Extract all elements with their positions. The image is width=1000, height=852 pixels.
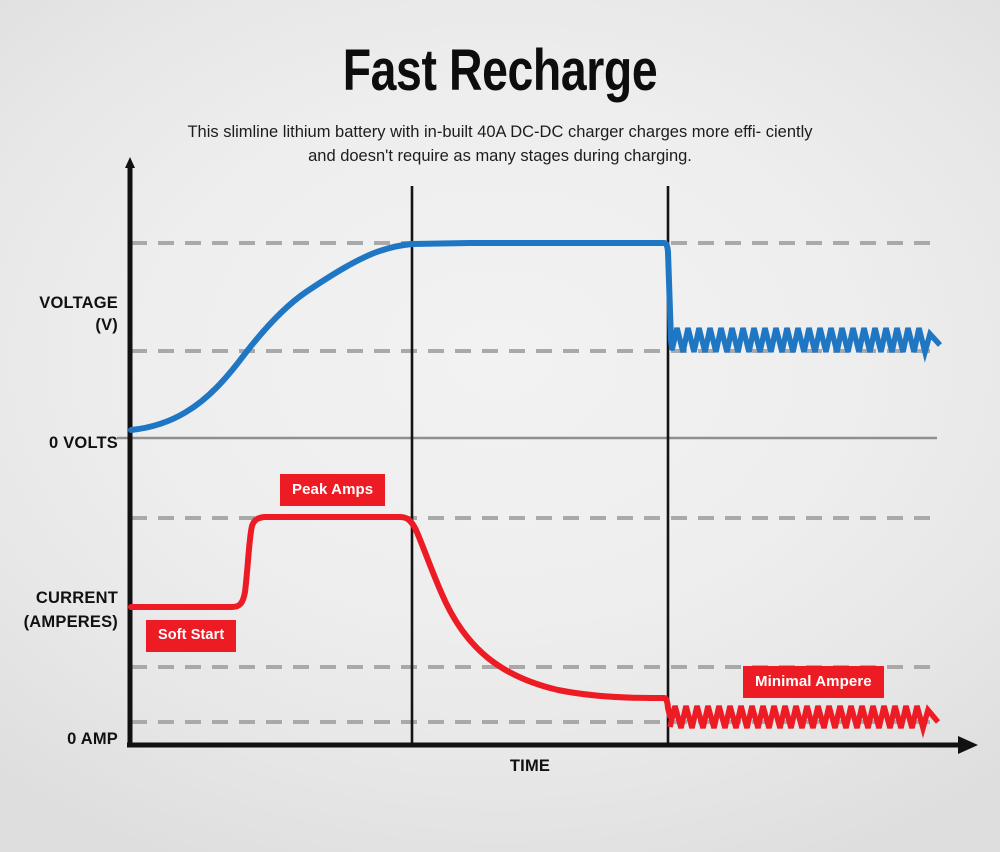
current-curve-path bbox=[131, 517, 670, 716]
axis-label-current-line2: (AMPERES) bbox=[0, 610, 118, 634]
axis-label-current-line1: CURRENT bbox=[36, 589, 118, 607]
axis-tick-zero-amp: 0 AMP bbox=[0, 730, 118, 749]
annotation-peak-amps: Peak Amps bbox=[280, 474, 385, 506]
x-axis-arrowhead bbox=[958, 736, 978, 754]
charge-profile-chart bbox=[0, 0, 1000, 852]
axis-label-current: CURRENT (AMPERES) bbox=[0, 586, 118, 634]
annotation-minimal-ampere: Minimal Ampere bbox=[743, 666, 884, 698]
axis-label-voltage: VOLTAGE (V) bbox=[0, 292, 118, 336]
voltage-curve-path bbox=[131, 243, 672, 430]
annotation-soft-start: Soft Start bbox=[146, 620, 236, 652]
infographic-page: Fast Recharge This slimline lithium batt… bbox=[0, 0, 1000, 852]
voltage-ripple-path bbox=[672, 328, 940, 352]
stage-dividers bbox=[412, 186, 668, 745]
voltage-curve bbox=[131, 243, 940, 430]
axis-tick-zero-volts: 0 VOLTS bbox=[0, 434, 118, 453]
current-ripple-path bbox=[670, 706, 938, 728]
axis-label-time: TIME bbox=[460, 757, 600, 776]
axis-label-voltage-line2: (V) bbox=[0, 314, 118, 336]
axis-label-voltage-line1: VOLTAGE bbox=[39, 294, 118, 312]
gridlines bbox=[117, 243, 937, 722]
